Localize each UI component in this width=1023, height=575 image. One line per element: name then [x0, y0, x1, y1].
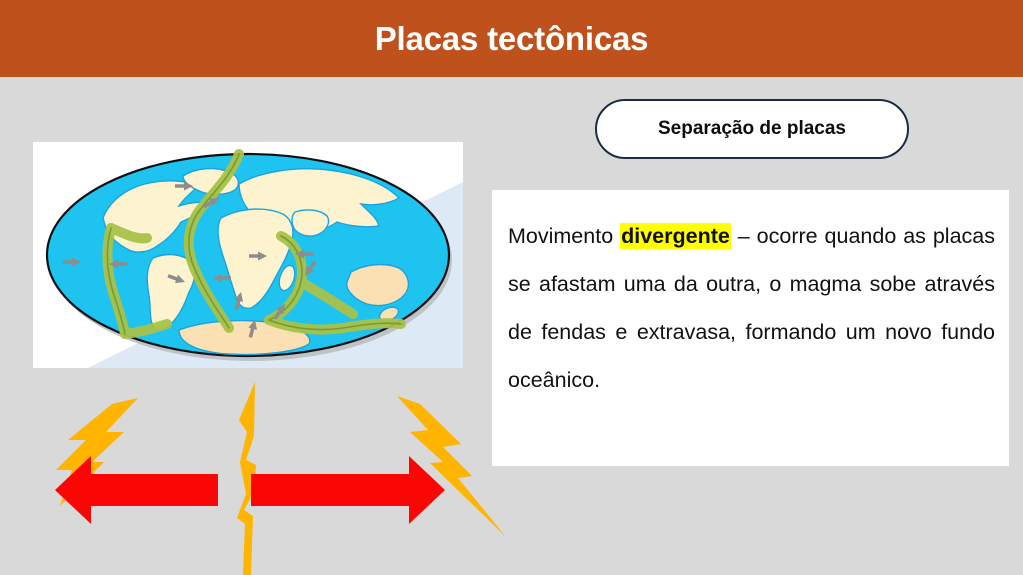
divergence-arrows — [55, 450, 445, 530]
description-box: Movimento divergente – ocorre quando as … — [492, 190, 1009, 466]
arrow-left-icon — [55, 456, 218, 524]
arrow-right-icon — [251, 456, 445, 524]
description-lead: Movimento — [508, 224, 620, 248]
header-banner: Placas tectônicas — [0, 0, 1023, 77]
highlighted-term: divergente — [620, 223, 731, 249]
pill-separacao-de-placas[interactable]: Separação de placas — [595, 99, 909, 159]
world-map-illustration — [33, 142, 463, 368]
pill-label: Separação de placas — [658, 118, 846, 140]
page-title: Placas tectônicas — [375, 22, 649, 55]
description-paragraph: Movimento divergente – ocorre quando as … — [508, 212, 995, 404]
world-map-figure — [33, 142, 463, 368]
description-rest: – ocorre quando as placas se afastam uma… — [508, 224, 995, 392]
